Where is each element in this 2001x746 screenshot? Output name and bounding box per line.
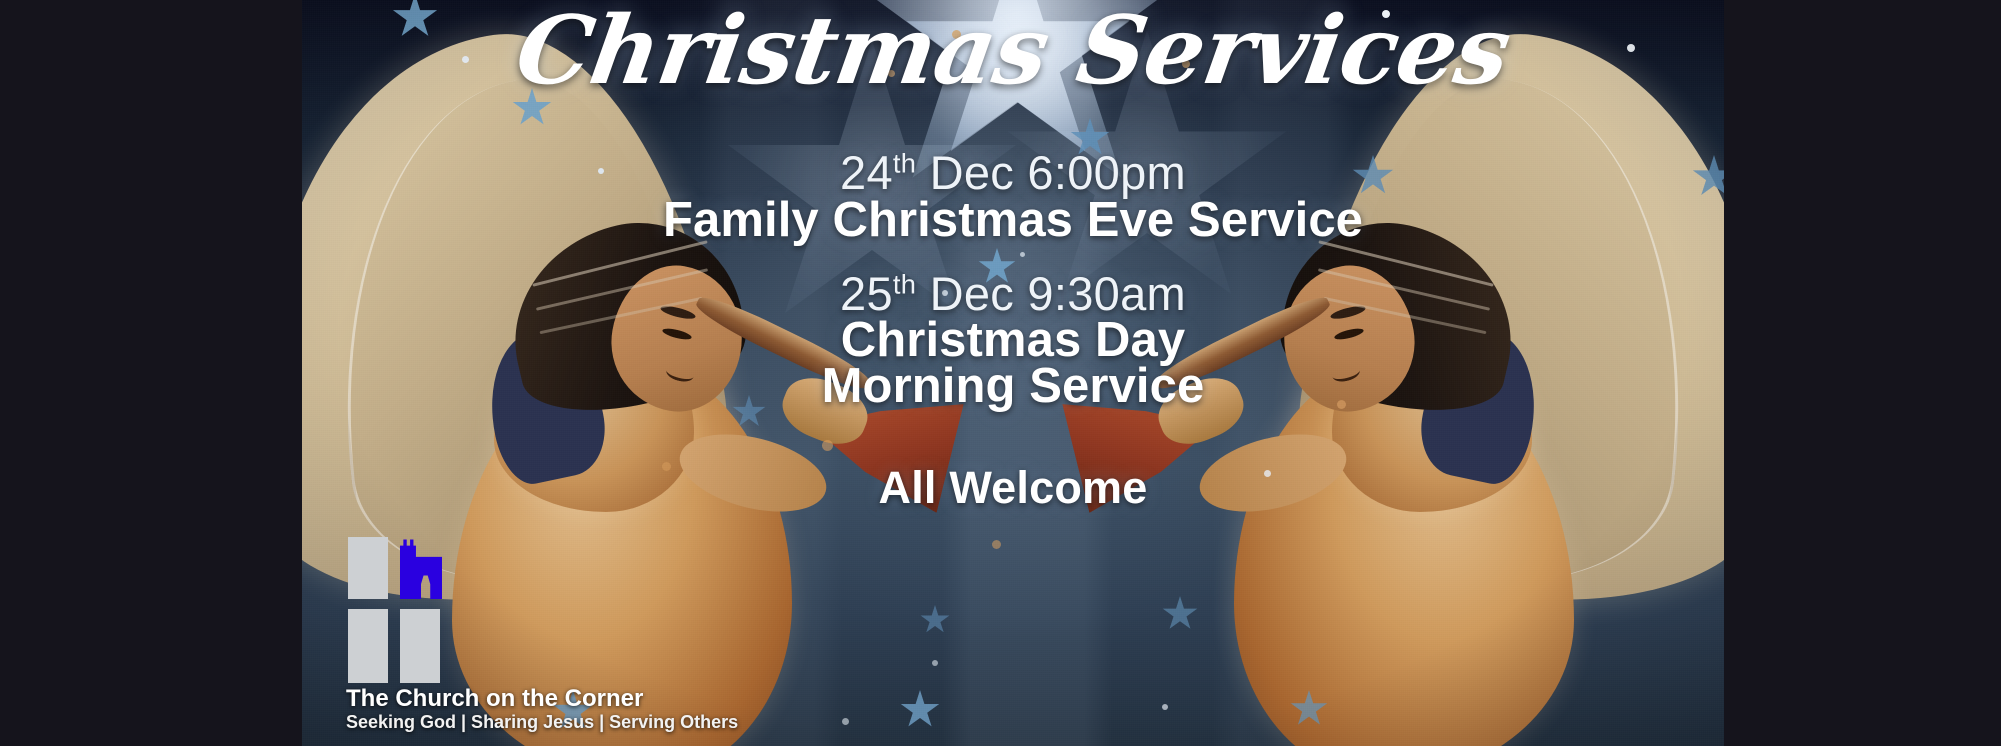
angel-right-trumpet-tube: [1152, 290, 1334, 397]
logo-block-bottom-right: [400, 609, 440, 683]
nativity-star-tertiary: [1002, 30, 1292, 320]
angel-right-eyebrow: [1329, 304, 1366, 321]
angel-right-eye: [1333, 326, 1364, 341]
light-shafts: [302, 0, 1724, 746]
sparkle-dot: [1020, 252, 1025, 257]
sparkle-dot: [1264, 470, 1271, 477]
angel-right-hair-strand: [1324, 297, 1487, 334]
star-icon: [920, 605, 950, 635]
church-building-icon: [400, 537, 442, 599]
nativity-star-secondary: [722, 40, 1022, 340]
angel-right-hair: [1269, 202, 1534, 429]
angel-left-face: [600, 256, 753, 421]
church-tagline: Seeking God | Sharing Jesus | Serving Ot…: [346, 712, 738, 733]
star-icon: [1162, 596, 1198, 632]
angel-right-robe: [1234, 360, 1574, 746]
sparkle-dot: [1337, 400, 1346, 409]
sparkle-dot: [952, 30, 961, 39]
sparkle-dot: [822, 440, 833, 451]
star-icon: [1070, 118, 1110, 158]
letterbox-left: [0, 0, 302, 746]
star-icon: [1692, 155, 1724, 199]
angel-right-mouth: [1331, 363, 1362, 384]
christmas-services-poster-image: [302, 0, 1724, 746]
star-icon: [392, 0, 438, 40]
angel-right-wing-inner: [1311, 65, 1714, 599]
star-icon: [1290, 690, 1328, 728]
sparkle-dot: [462, 56, 469, 63]
angel-left-hair: [493, 202, 758, 429]
angel-right-wing-outer: [1277, 10, 1724, 630]
angel-left-trumpet-tube: [692, 290, 874, 397]
sparkle-dot: [598, 168, 604, 174]
sparkle-dot: [942, 290, 948, 296]
church-name: The Church on the Corner: [346, 685, 643, 713]
angel-left-wing-inner: [312, 65, 715, 599]
angel-right-hair-strand: [1318, 240, 1493, 286]
angel-right-hair-strand: [1318, 268, 1490, 311]
angel-right: [1084, 30, 1724, 746]
angel-right-trumpet-grip: [1150, 368, 1251, 454]
angel-right-shoulder: [1332, 322, 1532, 512]
nativity-star-core: [902, 0, 1134, 172]
star-icon: [978, 248, 1016, 286]
star-icon: [1352, 155, 1394, 197]
church-logo-mark: [348, 537, 440, 683]
sparkle-dot: [1162, 704, 1168, 710]
angel-left-mouth: [665, 363, 696, 384]
angel-left-shoulder: [494, 322, 694, 512]
angel-left-hair-strand: [540, 297, 703, 334]
angel-left-eyebrow: [659, 304, 696, 321]
angel-left-hair-strand: [536, 268, 708, 311]
sparkle-dot: [1627, 44, 1635, 52]
angel-left-trumpet-grip: [774, 368, 875, 454]
poster-canvas: Christmas Services 24th Dec 6:00pm Famil…: [0, 0, 2001, 746]
angel-right-arm: [1192, 421, 1354, 525]
sparkle-dot: [662, 462, 671, 471]
angel-left-collar: [476, 320, 615, 490]
angel-right-trumpet-bell: [1062, 375, 1206, 513]
angel-left-trumpet-bell: [820, 375, 964, 513]
angel-right-face: [1272, 256, 1425, 421]
logo-block-bottom-left: [348, 609, 388, 683]
sparkle-dot: [992, 540, 1001, 549]
sparkle-dot: [888, 70, 895, 77]
vignette-overlay: [302, 0, 1724, 746]
letterbox-right: [1724, 0, 2001, 746]
star-icon: [732, 395, 766, 429]
angel-right-collar: [1412, 320, 1551, 490]
angel-left-eye: [661, 326, 692, 341]
sparkle-dot: [842, 718, 849, 725]
star-icon: [900, 690, 940, 730]
sparkle-dot: [1182, 60, 1190, 68]
angel-left-hair-strand: [532, 240, 707, 286]
nativity-star-glow: [837, 0, 1197, 210]
angel-left-arm: [672, 421, 834, 525]
star-icon: [512, 88, 552, 128]
sparkle-dot: [932, 660, 938, 666]
sparkle-dot: [1382, 10, 1390, 18]
logo-block-top-left: [348, 537, 388, 599]
film-grain-overlay: [302, 0, 1724, 746]
